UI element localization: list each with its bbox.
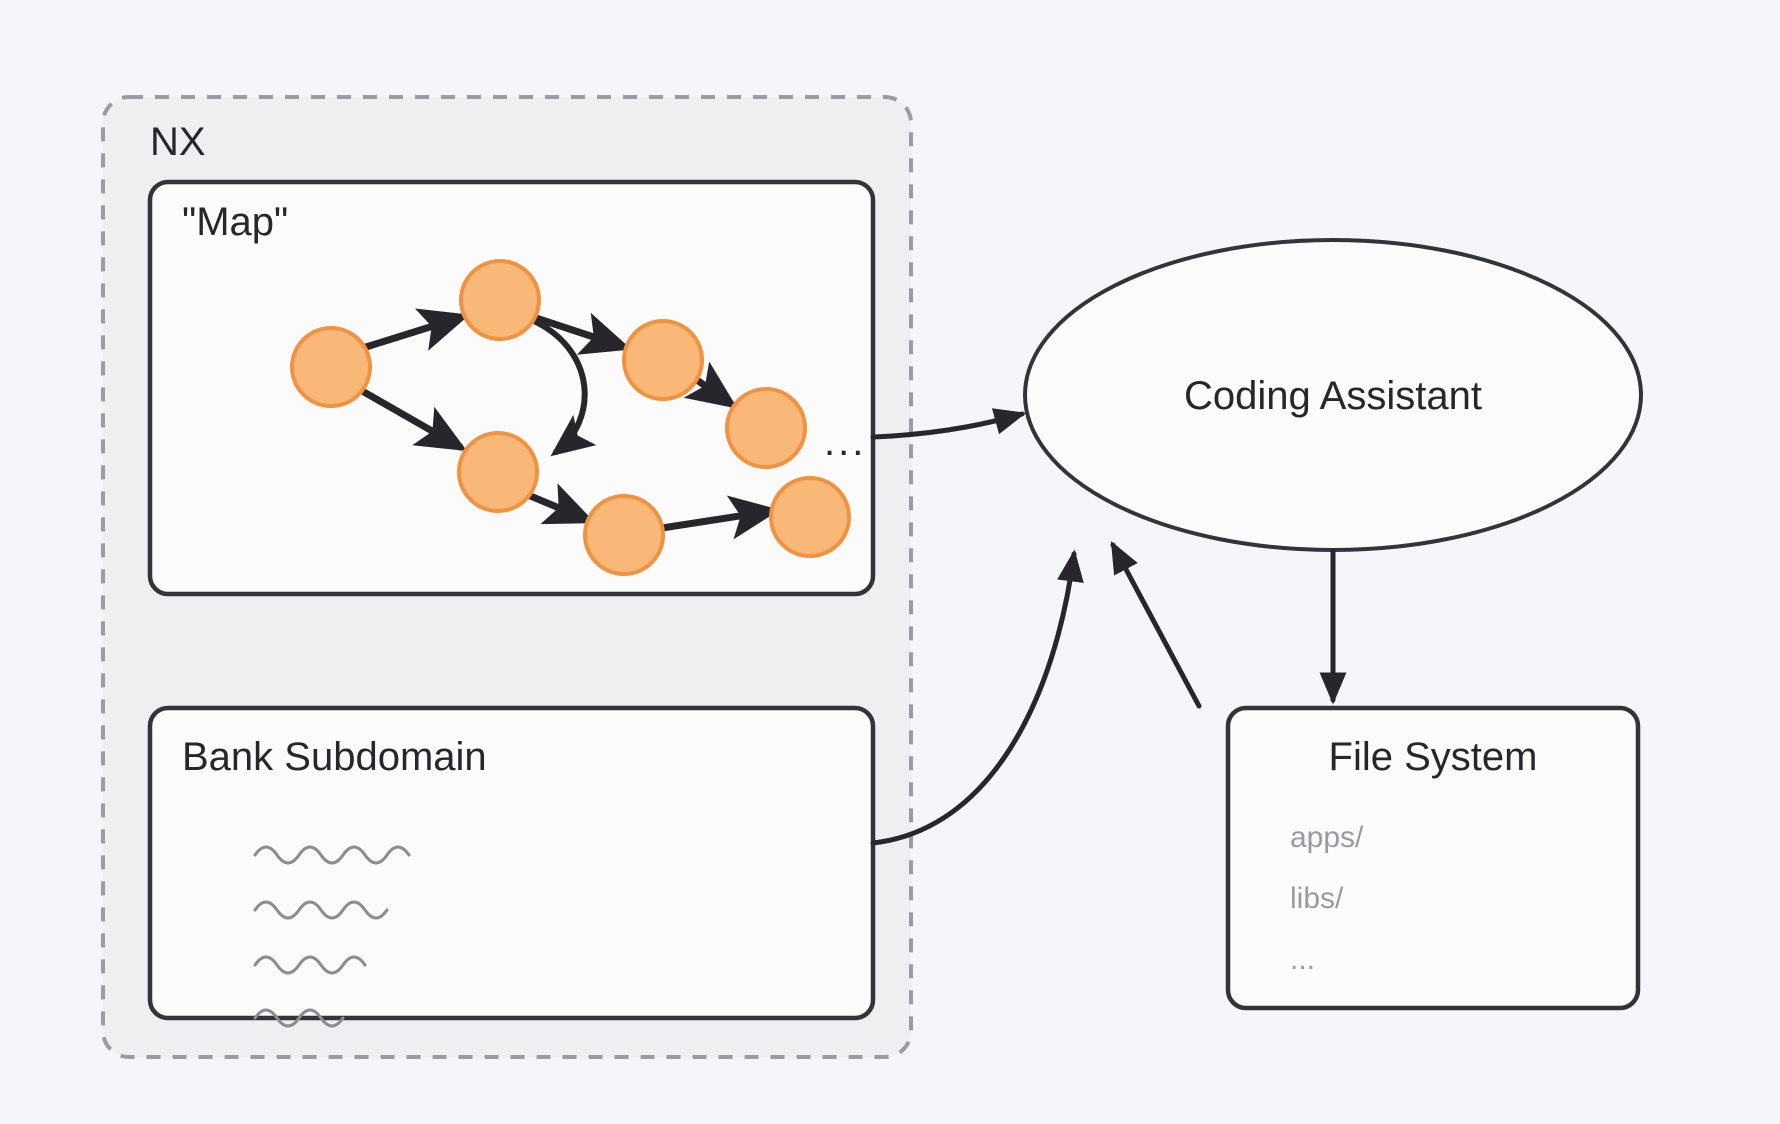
diagram-canvas: NX "Map" (0, 0, 1780, 1124)
bank-subdomain-box[interactable]: Bank Subdomain (150, 708, 873, 1026)
map-box-title: "Map" (182, 200, 288, 244)
map-graph-ellipsis: ... (824, 420, 866, 464)
graph-node[interactable] (727, 389, 805, 467)
bank-subdomain-title: Bank Subdomain (182, 735, 487, 779)
coding-assistant-label: Coding Assistant (1184, 374, 1482, 418)
file-system-entry-libs: libs/ (1290, 882, 1344, 915)
map-box[interactable]: "Map" ... (150, 182, 873, 594)
coding-assistant-node[interactable]: Coding Assistant (1025, 240, 1641, 550)
file-system-entry-ellipsis: ... (1290, 943, 1315, 976)
file-system-box[interactable]: File System apps/ libs/ ... (1228, 708, 1638, 1008)
file-system-title: File System (1329, 735, 1538, 779)
file-system-entry-apps: apps/ (1290, 821, 1364, 854)
graph-node[interactable] (292, 328, 370, 406)
arrow-filesystem-to-assistant (1113, 545, 1199, 706)
graph-node[interactable] (461, 261, 539, 339)
graph-node[interactable] (771, 478, 849, 556)
graph-node[interactable] (585, 496, 663, 574)
nx-container-label: NX (150, 120, 206, 164)
graph-node[interactable] (459, 433, 537, 511)
diagram-svg: NX "Map" (0, 0, 1780, 1124)
graph-node[interactable] (624, 321, 702, 399)
